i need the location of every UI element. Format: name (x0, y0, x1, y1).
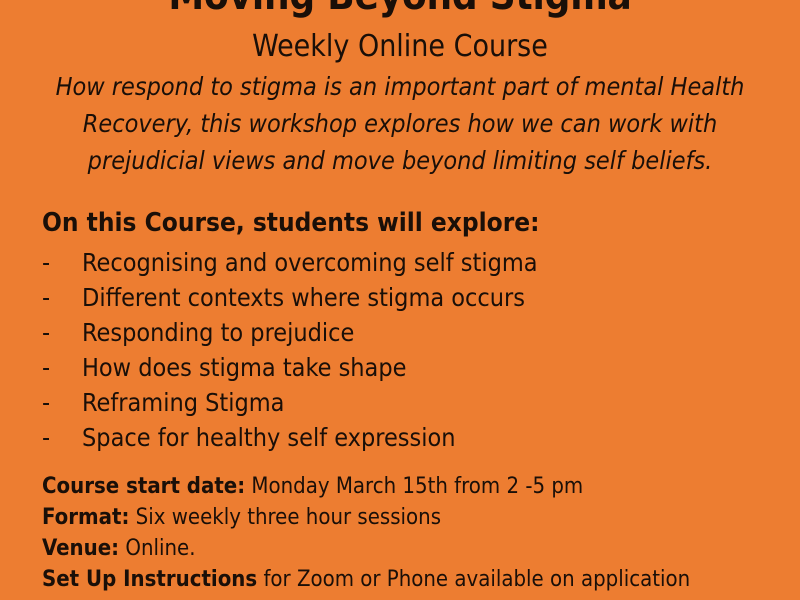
list-item: - Reframing Stigma (42, 385, 782, 420)
explore-heading: On this Course, students will explore: (42, 207, 539, 239)
bullet-dash-icon: - (42, 420, 82, 455)
detail-label: Venue: (42, 536, 119, 561)
list-item-label: Responding to prejudice (82, 315, 354, 350)
list-item: - Recognising and overcoming self stigma (42, 245, 782, 280)
list-item: - Space for healthy self expression (42, 420, 782, 455)
list-item-label: Recognising and overcoming self stigma (82, 245, 538, 280)
detail-label: Format: (42, 505, 129, 530)
bullet-dash-icon: - (42, 350, 82, 385)
list-item: - Responding to prejudice (42, 315, 782, 350)
bullet-dash-icon: - (42, 385, 82, 420)
bullet-dash-icon: - (42, 280, 82, 315)
bullet-dash-icon: - (42, 315, 82, 350)
detail-row-set-up-instructions: Set Up Instructions for Zoom or Phone av… (42, 564, 792, 595)
list-item-label: How does stigma take shape (82, 350, 406, 385)
detail-label: Course start date: (42, 474, 245, 499)
poster-subtitle: Weekly Online Course (0, 28, 800, 66)
list-item: - Different contexts where stigma occurs (42, 280, 782, 315)
detail-value: for Zoom or Phone available on applicati… (257, 567, 690, 592)
poster-canvas: Moving Beyond Stigma Weekly Online Cours… (0, 0, 800, 600)
bullet-dash-icon: - (42, 245, 82, 280)
course-description: How respond to stigma is an important pa… (20, 68, 780, 179)
list-item-label: Reframing Stigma (82, 385, 284, 420)
detail-value: Monday March 15th from 2 -5 pm (245, 474, 583, 499)
detail-row-format: Format: Six weekly three hour sessions (42, 502, 792, 533)
list-item-label: Space for healthy self expression (82, 420, 456, 455)
list-item: - How does stigma take shape (42, 350, 782, 385)
course-details: Course start date: Monday March 15th fro… (42, 471, 792, 595)
description-line: How respond to stigma is an important pa… (20, 68, 780, 105)
detail-row-course-start-date: Course start date: Monday March 15th fro… (42, 471, 792, 502)
course-topics-list: - Recognising and overcoming self stigma… (42, 245, 782, 455)
detail-label: Set Up Instructions (42, 567, 257, 592)
description-line: prejudicial views and move beyond limiti… (20, 142, 780, 179)
detail-value: Six weekly three hour sessions (129, 505, 441, 530)
poster-title: Moving Beyond Stigma (0, 0, 800, 22)
detail-row-venue: Venue: Online. (42, 533, 792, 564)
detail-value: Online. (119, 536, 195, 561)
list-item-label: Different contexts where stigma occurs (82, 280, 525, 315)
description-line: Recovery, this workshop explores how we … (20, 105, 780, 142)
